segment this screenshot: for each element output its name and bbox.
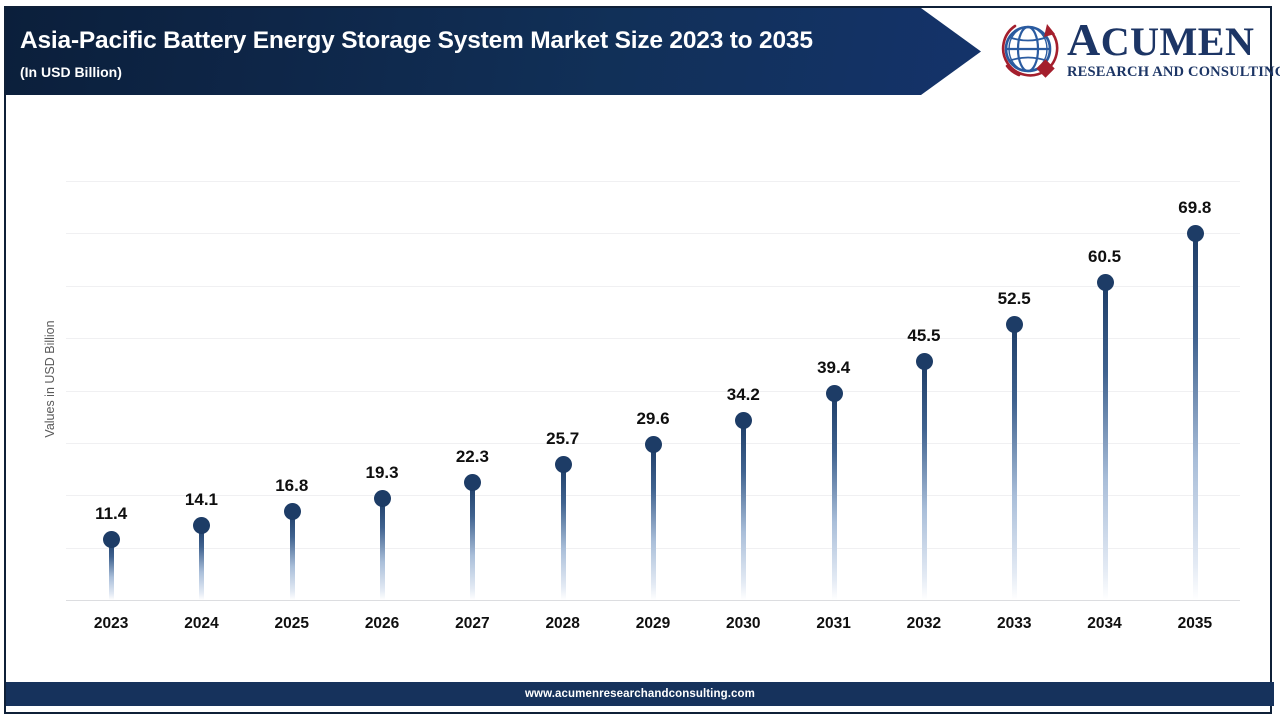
data-value-label: 16.8	[252, 476, 332, 496]
data-value-label: 69.8	[1155, 198, 1235, 218]
data-value-label: 45.5	[884, 326, 964, 346]
lollipop-stem	[651, 445, 656, 600]
lollipop-chart: Values in USD Billion 11.414.116.819.322…	[0, 0, 1280, 720]
lollipop-stem	[470, 483, 475, 600]
lollipop-stem	[741, 421, 746, 600]
data-value-label: 39.4	[794, 358, 874, 378]
lollipop-stem	[1012, 325, 1017, 600]
data-value-label: 25.7	[523, 429, 603, 449]
x-tick-2030: 2030	[703, 615, 783, 633]
footer-bar: www.acumenresearchandconsulting.com	[6, 682, 1274, 706]
lollipop-marker	[464, 474, 481, 491]
lollipop-stem	[832, 394, 837, 600]
lollipop-stem	[109, 540, 114, 600]
data-value-label: 11.4	[71, 504, 151, 524]
x-tick-2029: 2029	[613, 615, 693, 633]
lollipop-marker	[193, 517, 210, 534]
x-tick-2025: 2025	[252, 615, 332, 633]
lollipop-stem	[922, 362, 927, 600]
data-value-label: 14.1	[161, 490, 241, 510]
lollipop-marker	[826, 385, 843, 402]
lollipop-stem	[380, 499, 385, 600]
data-value-label: 52.5	[974, 289, 1054, 309]
data-value-label: 60.5	[1065, 247, 1145, 267]
lollipop-stem	[199, 526, 204, 600]
lollipop-marker	[555, 456, 572, 473]
gridline	[66, 391, 1240, 392]
chart-infographic: Asia-Pacific Battery Energy Storage Syst…	[0, 0, 1280, 720]
lollipop-marker	[374, 490, 391, 507]
x-tick-2026: 2026	[342, 615, 422, 633]
gridline	[66, 338, 1240, 339]
lollipop-marker	[1006, 316, 1023, 333]
x-tick-2027: 2027	[432, 615, 512, 633]
lollipop-marker	[1097, 274, 1114, 291]
x-tick-2024: 2024	[161, 615, 241, 633]
data-value-label: 29.6	[613, 409, 693, 429]
y-axis-label: Values in USD Billion	[43, 299, 57, 459]
axis-baseline	[66, 600, 1240, 601]
x-tick-2023: 2023	[71, 615, 151, 633]
lollipop-stem	[561, 465, 566, 600]
x-tick-2034: 2034	[1065, 615, 1145, 633]
lollipop-marker	[1187, 225, 1204, 242]
website-url: www.acumenresearchandconsulting.com	[525, 688, 755, 700]
lollipop-marker	[645, 436, 662, 453]
gridline	[66, 286, 1240, 287]
gridline	[66, 233, 1240, 234]
x-tick-2028: 2028	[523, 615, 603, 633]
x-tick-2032: 2032	[884, 615, 964, 633]
lollipop-marker	[284, 503, 301, 520]
lollipop-marker	[103, 531, 120, 548]
lollipop-stem	[290, 512, 295, 600]
x-tick-2033: 2033	[974, 615, 1054, 633]
x-tick-2035: 2035	[1155, 615, 1235, 633]
lollipop-stem	[1103, 283, 1108, 600]
x-tick-2031: 2031	[794, 615, 874, 633]
lollipop-stem	[1193, 234, 1198, 600]
data-value-label: 19.3	[342, 463, 422, 483]
lollipop-marker	[916, 353, 933, 370]
data-value-label: 34.2	[703, 385, 783, 405]
data-value-label: 22.3	[432, 447, 512, 467]
lollipop-marker	[735, 412, 752, 429]
gridline	[66, 181, 1240, 182]
